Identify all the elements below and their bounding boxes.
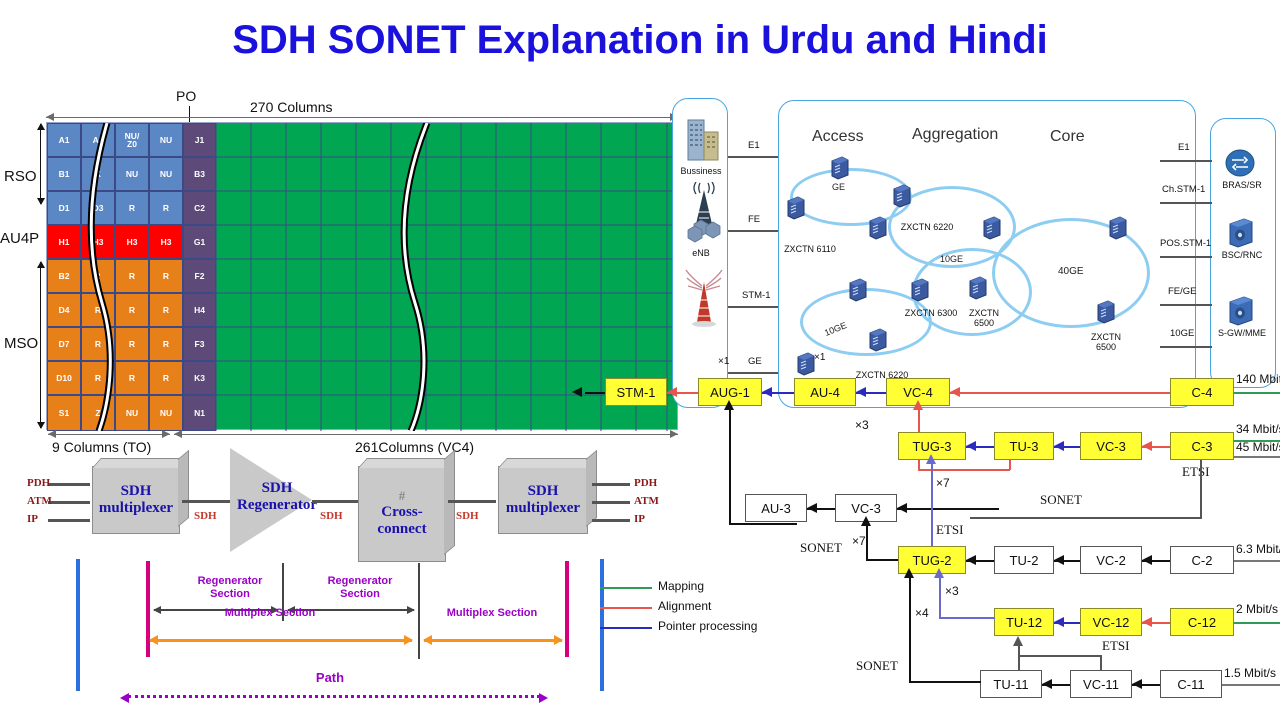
arrow-up-icon bbox=[37, 261, 45, 268]
device-label-zxctn6500-a: ZXCTN 6500 bbox=[962, 308, 1006, 328]
conn-vc11-tu12-horizontal bbox=[1018, 655, 1100, 657]
arrow-up-icon bbox=[861, 516, 871, 526]
sdh-regenerator-label: SDH Regenerator bbox=[236, 480, 318, 515]
arrow-up-icon bbox=[913, 400, 923, 410]
rate-label-ds2: 6.3 Mbit/s (DS2) bbox=[1236, 542, 1280, 556]
multiplier-label-x3-vc4: ×3 bbox=[855, 418, 869, 432]
device-label-sgwmme: S-GW/MME bbox=[1212, 328, 1272, 338]
arrow-left-icon bbox=[897, 503, 907, 513]
switch-icon bbox=[848, 278, 868, 302]
mux-box-tu11[interactable]: TU-11 bbox=[980, 670, 1042, 698]
arrow-up-icon bbox=[1013, 636, 1023, 646]
standard-label-sonet-tu11: SONET bbox=[856, 658, 898, 674]
device-label-business: Bussiness bbox=[674, 166, 728, 176]
arrow-right-icon bbox=[539, 693, 548, 703]
conn-tug2-vc3b bbox=[897, 508, 999, 510]
link-label-sdh-3: SDH bbox=[456, 510, 479, 522]
link-rate-10ge-a: 10GE bbox=[940, 254, 963, 264]
regen-boundary-right bbox=[418, 563, 420, 659]
interface-line bbox=[1160, 160, 1212, 162]
regen-sec-line1: Regenerator bbox=[180, 575, 280, 588]
rate-line-e4 bbox=[1234, 392, 1280, 394]
input-wire bbox=[48, 501, 90, 504]
multiplier-label-x1-right: ×1 bbox=[814, 352, 825, 363]
mux-box-vc11[interactable]: VC-11 bbox=[1070, 670, 1132, 698]
switch-icon bbox=[892, 184, 912, 208]
regen-sec-line2: Section bbox=[180, 588, 280, 601]
conn-tu11-tug2-horizontal bbox=[909, 681, 981, 683]
office-building-icon bbox=[685, 116, 723, 164]
link-rate-40ge: 40GE bbox=[1058, 266, 1084, 277]
total-columns-label: 270 Columns bbox=[250, 99, 333, 115]
multiplier-label-x1-left: ×1 bbox=[718, 356, 729, 367]
standard-label-etsi-tug3: ETSI bbox=[936, 522, 963, 538]
hash-icon: # bbox=[399, 489, 406, 504]
conn-tu12-tug2-riser bbox=[939, 574, 941, 618]
mux-box-au4[interactable]: AU-4 bbox=[794, 378, 856, 406]
cross-connect[interactable]: # Cross- connect bbox=[358, 466, 446, 562]
rate-label-e4: 140 Mbit/s (E4) bbox=[1236, 372, 1280, 386]
regen-line2: Regenerator bbox=[236, 497, 318, 514]
arrow-left-icon bbox=[48, 430, 56, 438]
device-label-zxctn6500-b: ZXCTN 6500 bbox=[1084, 332, 1128, 352]
conn-tu11-tug2-riser bbox=[909, 574, 911, 682]
arrow-right-icon bbox=[407, 606, 415, 614]
switch-icon bbox=[868, 328, 888, 352]
standard-label-etsi-tu12: ETSI bbox=[1102, 638, 1129, 654]
interface-label-chstm1: Ch.STM-1 bbox=[1162, 184, 1205, 195]
mux-box-tu12[interactable]: TU-12 bbox=[994, 608, 1054, 636]
arrow-down-icon bbox=[37, 422, 45, 429]
sdh-multiplexing-hierarchy: STM-1 AUG-1 AU-4 VC-4 C-4 140 Mbit/s (E4… bbox=[560, 370, 1280, 720]
device-label-zxctn6300: ZXCTN 6300 bbox=[892, 308, 970, 318]
standard-label-etsi-c3: ETSI bbox=[1182, 464, 1209, 480]
interface-label-posstm1: POS.STM-1 bbox=[1160, 238, 1211, 249]
rate-line-e1 bbox=[1234, 622, 1280, 624]
arrow-left-icon bbox=[174, 430, 182, 438]
switch-icon bbox=[786, 196, 806, 220]
mux-box-au3[interactable]: AU-3 bbox=[745, 494, 807, 522]
cell-tower-icon bbox=[684, 182, 724, 246]
slide-root: SDH SONET Explanation in Urdu and Hindi … bbox=[0, 0, 1280, 720]
arrow-left-icon bbox=[572, 387, 582, 397]
arrow-left-icon bbox=[1054, 441, 1064, 451]
regen-sec-line1: Regenerator bbox=[310, 575, 410, 588]
arrow-left-icon bbox=[762, 387, 772, 397]
interface-line bbox=[1160, 346, 1212, 348]
conn-c3-sonet-horizontal bbox=[970, 517, 1202, 519]
sdh-multiplexer-left[interactable]: SDH multiplexer bbox=[92, 466, 180, 534]
path-label: Path bbox=[295, 671, 365, 686]
path-arrow bbox=[128, 695, 540, 698]
input-label-pdh: PDH bbox=[27, 477, 50, 489]
conn-tug2-vc3b-riser bbox=[866, 522, 868, 560]
device-label-enb: eNB bbox=[674, 248, 728, 258]
arrow-up-icon bbox=[37, 123, 45, 130]
regen-line1: SDH bbox=[236, 480, 318, 497]
interface-line bbox=[728, 156, 778, 158]
rate-line-ds1 bbox=[1222, 684, 1280, 686]
arrow-right-icon bbox=[162, 430, 170, 438]
interface-label-e1: E1 bbox=[748, 140, 760, 151]
arrow-left-icon bbox=[966, 555, 976, 565]
arrow-left-icon bbox=[1132, 679, 1142, 689]
overhead-dimension-line bbox=[48, 434, 170, 435]
mux-box-vc12[interactable]: VC-12 bbox=[1080, 608, 1142, 636]
arrow-left-icon bbox=[46, 113, 54, 121]
arrow-left-icon bbox=[1054, 555, 1064, 565]
link-label-sdh-2: SDH bbox=[320, 510, 343, 522]
sdh-mux-left-line1: SDH bbox=[121, 483, 152, 500]
arrow-left-icon bbox=[423, 635, 432, 645]
rate-line-ds2 bbox=[1234, 560, 1280, 562]
mux-box-vc3[interactable]: VC-3 bbox=[1080, 432, 1142, 460]
po-label: PO bbox=[176, 88, 196, 104]
mux-box-c12[interactable]: C-12 bbox=[1170, 608, 1234, 636]
arrow-up-icon bbox=[724, 400, 734, 410]
mux-box-c4[interactable]: C-4 bbox=[1170, 378, 1234, 406]
arrow-up-icon bbox=[934, 568, 944, 578]
switch-icon bbox=[1108, 216, 1128, 240]
regenerator-section-label-2: Regenerator Section bbox=[310, 575, 410, 600]
interface-line bbox=[1160, 304, 1212, 306]
link-rate-ge: GE bbox=[832, 182, 845, 192]
conn-tug2-tug3-vertical bbox=[931, 460, 933, 556]
switch-icon bbox=[982, 216, 1002, 240]
link-xconn-to-mux bbox=[448, 500, 496, 503]
mux-box-tu2[interactable]: TU-2 bbox=[994, 546, 1054, 574]
mso-bracket bbox=[40, 262, 41, 428]
conn-au3-aug1-horizontal bbox=[729, 523, 797, 525]
arrow-up-icon bbox=[926, 454, 936, 464]
interface-label-e1-right: E1 bbox=[1178, 142, 1190, 153]
interface-label-fege: FE/GE bbox=[1168, 286, 1197, 297]
arrow-left-icon bbox=[1142, 617, 1152, 627]
path-boundary-left bbox=[76, 559, 80, 691]
conn-c3-sonet-drop bbox=[1200, 460, 1202, 518]
switch-icon bbox=[830, 156, 850, 180]
sdh-mux-left-line2: multiplexer bbox=[99, 500, 173, 517]
region-label-aggregation: Aggregation bbox=[912, 126, 998, 144]
page-title: SDH SONET Explanation in Urdu and Hindi bbox=[0, 18, 1280, 63]
arrow-left-icon bbox=[966, 441, 976, 451]
standard-label-sonet-vc3: SONET bbox=[800, 540, 842, 556]
mux-box-stm1[interactable]: STM-1 bbox=[605, 378, 667, 406]
mux-box-c2[interactable]: C-2 bbox=[1170, 546, 1234, 574]
device-label-zxctn6110: ZXCTN 6110 bbox=[772, 244, 848, 254]
switch-icon bbox=[910, 278, 930, 302]
rate-line-ds3 bbox=[1234, 456, 1280, 458]
interface-line bbox=[728, 306, 778, 308]
arrow-left-icon bbox=[120, 693, 129, 703]
arrow-left-icon bbox=[1054, 617, 1064, 627]
rate-label-ds3: 45 Mbit/s (DS3) bbox=[1236, 440, 1280, 454]
region-label-access: Access bbox=[812, 128, 864, 146]
multiplex-section-label-1: Multiplex Section bbox=[210, 607, 330, 620]
rso-bracket bbox=[40, 124, 41, 204]
input-label-atm: ATM bbox=[27, 495, 52, 507]
link-regen-to-xconn bbox=[312, 500, 360, 503]
input-label-ip: IP bbox=[27, 513, 38, 525]
network-topology-diagram: Bussiness eNB bbox=[672, 98, 1280, 410]
multiplex-section-arrow-1 bbox=[150, 639, 412, 642]
multiplex-section-label-2: Multiplex Section bbox=[432, 607, 552, 620]
region-label-core: Core bbox=[1050, 128, 1085, 146]
standard-label-sonet-c3: SONET bbox=[1040, 492, 1082, 508]
gateway-icon bbox=[1228, 296, 1254, 326]
multiplier-label-x3-tug2: ×3 bbox=[945, 584, 959, 598]
router-icon bbox=[1224, 148, 1256, 178]
conn-out-stm1 bbox=[585, 392, 605, 394]
input-wire bbox=[48, 519, 90, 522]
interface-label-stm1: STM-1 bbox=[742, 290, 771, 301]
xconn-line2: connect bbox=[377, 521, 426, 538]
device-label-bscrnc: BSC/RNC bbox=[1216, 250, 1268, 260]
device-label-zxctn6220-a: ZXCTN 6220 bbox=[888, 222, 966, 232]
arrow-left-icon bbox=[807, 503, 817, 513]
section-label-rso: RSO bbox=[4, 168, 37, 185]
interface-line bbox=[1160, 256, 1212, 258]
columns-dimension-line bbox=[46, 117, 678, 118]
rate-label-e3: 34 Mbit/s (E3) bbox=[1236, 422, 1280, 436]
xconn-line1: Cross- bbox=[381, 504, 422, 521]
arrow-left-icon bbox=[153, 606, 161, 614]
multiplier-label-x4-tug2: ×4 bbox=[915, 606, 929, 620]
mux-box-tu3[interactable]: TU-3 bbox=[994, 432, 1054, 460]
sdh-mux-right-line1: SDH bbox=[528, 483, 559, 500]
input-wire bbox=[48, 483, 90, 486]
interface-label-10ge-right: 10GE bbox=[1170, 328, 1194, 339]
device-label-brassr: BRAS/SR bbox=[1216, 180, 1268, 190]
interface-line bbox=[1160, 202, 1212, 204]
mux-box-vc2[interactable]: VC-2 bbox=[1080, 546, 1142, 574]
multiplier-label-x7-vc3: ×7 bbox=[852, 534, 866, 548]
link-label-sdh-1: SDH bbox=[194, 510, 217, 522]
switch-icon bbox=[1096, 300, 1116, 324]
multiplex-section-arrow-2 bbox=[424, 639, 562, 642]
server-icon bbox=[1228, 218, 1254, 248]
mux-box-c11[interactable]: C-11 bbox=[1160, 670, 1222, 698]
multiplier-label-x7-tug3: ×7 bbox=[936, 476, 950, 490]
arrow-right-icon bbox=[404, 635, 413, 645]
interface-label-ge: GE bbox=[748, 356, 762, 367]
conn-c4-vc4 bbox=[950, 392, 1170, 394]
arrow-down-icon bbox=[37, 198, 45, 205]
switch-icon bbox=[868, 216, 888, 240]
antenna-tower-icon bbox=[684, 266, 724, 328]
arrow-left-icon bbox=[950, 387, 960, 397]
section-label-mso: MSO bbox=[4, 335, 38, 352]
regenerator-section-label-1: Regenerator Section bbox=[180, 575, 280, 600]
arrow-left-icon bbox=[667, 387, 677, 397]
arrow-left-icon bbox=[149, 635, 158, 645]
section-label-au4p: AU4P bbox=[0, 230, 39, 247]
interface-line bbox=[728, 230, 778, 232]
mux-box-c3[interactable]: C-3 bbox=[1170, 432, 1234, 460]
switch-icon bbox=[968, 276, 988, 300]
arrow-left-icon bbox=[1142, 441, 1152, 451]
conn-tu12-tug2-horizontal bbox=[939, 617, 995, 619]
rate-label-ds1: 1.5 Mbit/s (DS1) bbox=[1224, 666, 1280, 680]
interface-label-fe: FE bbox=[748, 214, 760, 225]
rate-label-e1: 2 Mbit/s (E1) bbox=[1236, 602, 1280, 616]
arrow-left-icon bbox=[1042, 679, 1052, 689]
arrow-left-icon bbox=[1142, 555, 1152, 565]
arrow-left-icon bbox=[856, 387, 866, 397]
arrow-up-icon bbox=[904, 568, 914, 578]
regen-sec-line2: Section bbox=[310, 588, 410, 601]
conn-vc11-drop bbox=[1100, 655, 1102, 670]
conn-au3-aug1-vertical bbox=[729, 406, 731, 524]
